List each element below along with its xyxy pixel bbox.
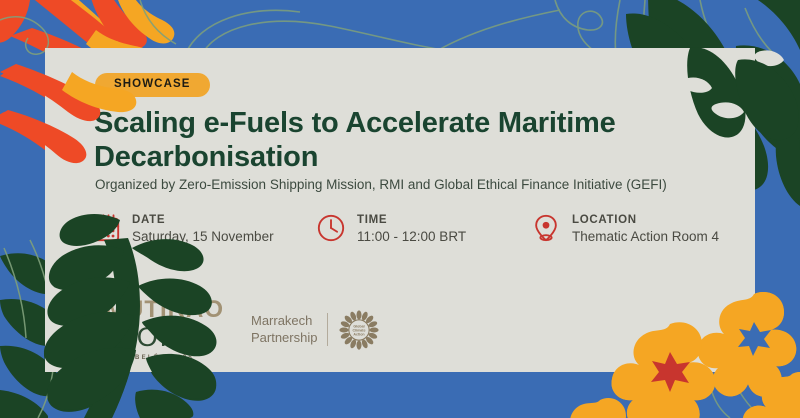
event-poster: SHOWCASE Scaling e-Fuels to Accelerate M… (0, 0, 800, 418)
meta-label-time: TIME (357, 213, 466, 227)
meta-item-time: TIME 11:00 - 12:00 BRT (316, 211, 531, 247)
stem-lines-top-left (0, 0, 176, 54)
meta-label-date: DATE (132, 213, 274, 227)
yellow-flower-bottom (551, 398, 637, 418)
cop30-mutirao-text: MUTIRÃO (105, 298, 224, 322)
meta-item-date: DATE Saturday, 15 November (91, 211, 316, 247)
meta-text-time: TIME 11:00 - 12:00 BRT (357, 211, 466, 247)
event-meta-row: DATE Saturday, 15 November TIME 11:00 - … (91, 211, 751, 247)
marrakech-partnership-text: Marrakech Partnership (251, 313, 328, 346)
meta-value-time: 11:00 - 12:00 BRT (357, 228, 466, 246)
meta-value-date: Saturday, 15 November (132, 228, 274, 246)
showcase-badge: SHOWCASE (95, 73, 210, 97)
map-pin-icon (531, 213, 561, 243)
logo-strip: MUTIRÃO COP30 BELÉM 2025 Marrakech Partn… (105, 298, 380, 361)
meta-label-location: LOCATION (572, 213, 719, 227)
meta-value-location: Thematic Action Room 4 (572, 228, 719, 246)
meta-text-date: DATE Saturday, 15 November (132, 211, 274, 247)
clock-icon (316, 213, 346, 243)
page-title: Scaling e-Fuels to Accelerate Maritime D… (94, 106, 734, 174)
meta-text-location: LOCATION Thematic Action Room 4 (572, 211, 719, 247)
meta-item-location: LOCATION Thematic Action Room 4 (531, 211, 751, 247)
emblem-text-line-3: Action (354, 332, 365, 336)
cop30-belem-text: BELÉM 2025 (105, 355, 224, 361)
yellow-flower-corner (743, 372, 800, 418)
event-card: SHOWCASE Scaling e-Fuels to Accelerate M… (45, 48, 755, 372)
marrakech-line-2: Partnership (251, 330, 317, 346)
cop30-cop-text: COP30 (105, 323, 224, 352)
global-climate-action-emblem: Global Climate Action (338, 309, 380, 351)
marrakech-partnership-logo: Marrakech Partnership (251, 309, 380, 351)
stem-lines-bottom-right (712, 370, 780, 418)
calendar-icon (91, 213, 121, 243)
organizer-text: Organized by Zero-Emission Shipping Miss… (95, 176, 755, 194)
cop30-logo: MUTIRÃO COP30 BELÉM 2025 (105, 298, 224, 361)
marrakech-line-1: Marrakech (251, 313, 317, 329)
